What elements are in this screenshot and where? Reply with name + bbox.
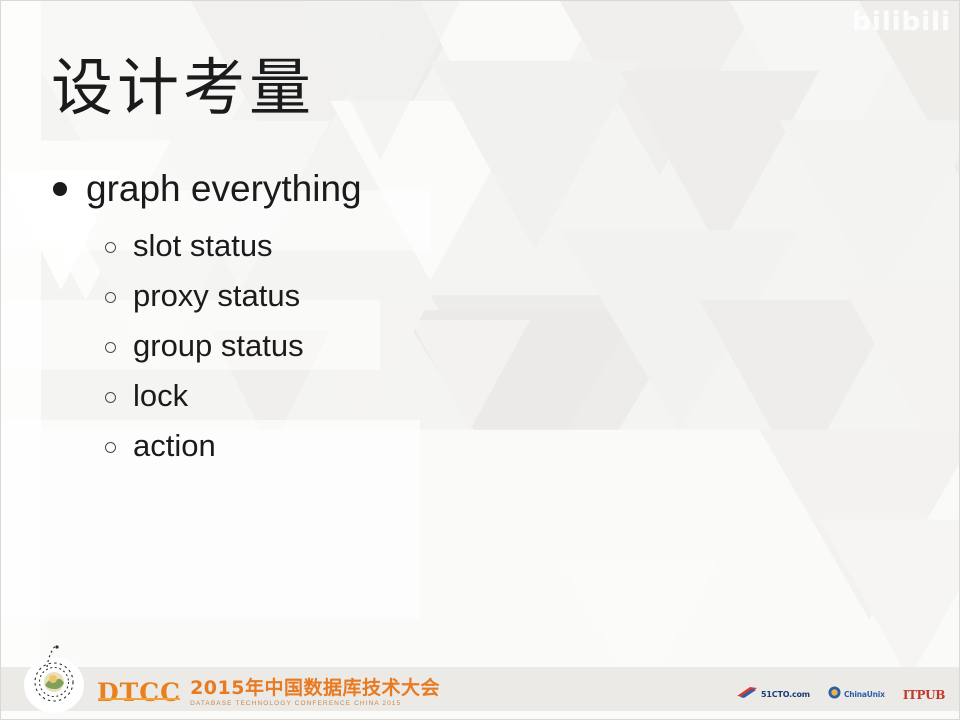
slide-title: 设计考量 <box>51 53 315 122</box>
dtcc-seal-icon <box>23 641 85 713</box>
sub-bullet-list: slot status proxy status group status lo… <box>53 226 693 467</box>
hollow-circle-icon <box>105 292 116 303</box>
bullet-list: graph everything slot status proxy statu… <box>53 166 693 476</box>
bullet-item-level2: group status <box>105 326 693 367</box>
sub-bullet-label: action <box>133 426 216 467</box>
filled-disc-icon <box>53 182 67 196</box>
hollow-circle-icon <box>105 392 116 403</box>
sub-bullet-label: slot status <box>133 226 273 267</box>
sub-bullet-label: group status <box>133 326 304 367</box>
hollow-circle-icon <box>105 242 116 253</box>
bullet-item-level1: graph everything <box>53 166 693 212</box>
chinaunix-logo-icon <box>828 686 841 703</box>
bullet-label: graph everything <box>86 166 362 212</box>
sponsor-label: 51CTO.com <box>761 691 810 699</box>
sponsor-logos: 51CTO.com ChinaUnix ITPUB <box>736 686 945 703</box>
conference-name-en: DATABASE TECHNOLOGY CONFERENCE CHINA 201… <box>190 701 440 708</box>
sponsor-label: ITPUB <box>903 689 945 701</box>
bullet-item-level2: action <box>105 426 693 467</box>
conference-name-cn: 2015年中国数据库技术大会 <box>190 679 440 698</box>
sponsor-chinaunix: ChinaUnix <box>828 686 885 703</box>
sub-bullet-label: lock <box>133 376 188 417</box>
hollow-circle-icon <box>105 442 116 453</box>
bullet-item-level2: slot status <box>105 226 693 267</box>
51cto-logo-icon <box>736 686 758 703</box>
watermark-text: bilibili <box>852 7 951 37</box>
bullet-item-level2: proxy status <box>105 276 693 317</box>
sponsor-51cto: 51CTO.com <box>736 686 810 703</box>
footer-brand: DTCC 2015年中国数据库技术大会 DATABASE TECHNOLOGY … <box>97 679 440 708</box>
sponsor-itpub: ITPUB <box>903 689 945 701</box>
presentation-slide: bilibili 设计考量 graph everything slot stat… <box>0 0 960 720</box>
sub-bullet-label: proxy status <box>133 276 300 317</box>
hollow-circle-icon <box>105 342 116 353</box>
sponsor-label: ChinaUnix <box>844 691 885 699</box>
bullet-item-level2: lock <box>105 376 693 417</box>
dtcc-acronym: DTCC <box>97 680 181 707</box>
